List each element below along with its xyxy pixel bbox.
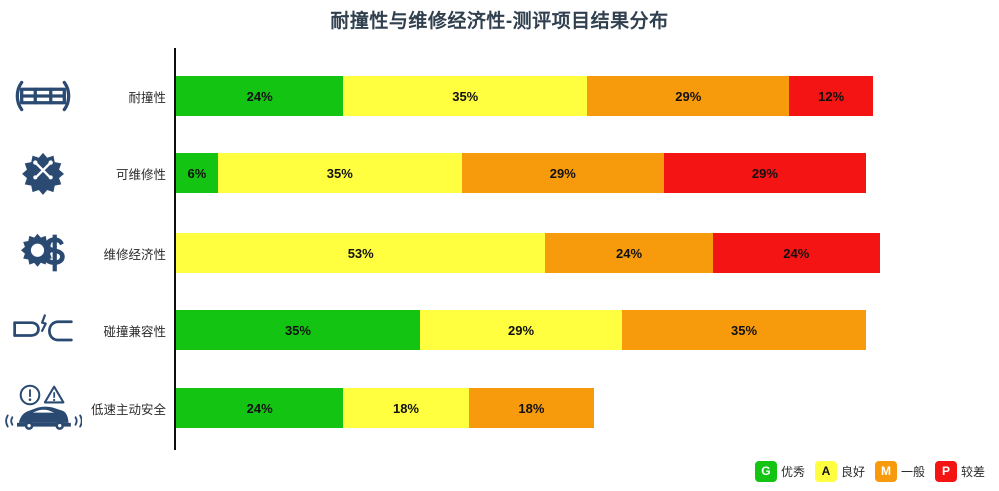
gear-dollar-icon: [4, 227, 82, 279]
stacked-bar: 6%35%29%29%: [176, 153, 866, 193]
collision-compatibility-icon: [4, 304, 82, 356]
legend-item: M一般: [875, 461, 925, 482]
legend-swatch-g: G: [755, 461, 777, 482]
stacked-bar: 35%29%35%: [176, 310, 866, 350]
bar-segment-m: 24%: [545, 233, 712, 273]
legend-swatch-p: P: [935, 461, 957, 482]
chart-row: 低速主动安全24%18%18%: [0, 388, 999, 428]
legend-label: 良好: [841, 463, 865, 480]
category-label: 低速主动安全: [86, 388, 166, 428]
bar-segment-g: 6%: [176, 153, 218, 193]
bar-segment-a: 29%: [420, 310, 622, 350]
bar-segment-g: 35%: [176, 310, 420, 350]
legend-swatch-a: A: [815, 461, 837, 482]
wrench-gear-icon: [4, 147, 82, 199]
bar-segment-p: 24%: [713, 233, 880, 273]
chart-row: 维修经济性53%24%24%: [0, 233, 999, 273]
bar-segment-m: 18%: [469, 388, 594, 428]
bar-segment-p: 29%: [664, 153, 866, 193]
chart-row: 可维修性6%35%29%29%: [0, 153, 999, 193]
chart-row: 碰撞兼容性35%29%35%: [0, 310, 999, 350]
crash-structure-icon: [4, 70, 82, 122]
stacked-bar: 24%35%29%12%: [176, 76, 873, 116]
legend-label: 一般: [901, 463, 925, 480]
legend-label: 较差: [961, 463, 985, 480]
category-label: 可维修性: [86, 153, 166, 193]
bar-segment-a: 35%: [218, 153, 462, 193]
bar-segment-m: 29%: [587, 76, 789, 116]
bar-segment-m: 29%: [462, 153, 664, 193]
legend-item: G优秀: [755, 461, 805, 482]
legend-item: P较差: [935, 461, 985, 482]
bar-segment-a: 53%: [176, 233, 545, 273]
category-label: 维修经济性: [86, 233, 166, 273]
stacked-bar: 53%24%24%: [176, 233, 880, 273]
category-label: 耐撞性: [86, 76, 166, 116]
stacked-bar: 24%18%18%: [176, 388, 594, 428]
legend-item: A良好: [815, 461, 865, 482]
legend-label: 优秀: [781, 463, 805, 480]
legend-swatch-m: M: [875, 461, 897, 482]
bar-segment-g: 24%: [176, 76, 343, 116]
bar-segment-a: 35%: [343, 76, 587, 116]
bar-segment-p: 12%: [789, 76, 873, 116]
bar-segment-a: 18%: [343, 388, 468, 428]
chart-legend: G优秀A良好M一般P较差: [755, 457, 991, 485]
page-title: 耐撞性与维修经济性-测评项目结果分布: [0, 6, 999, 33]
chart-plot-area: 耐撞性24%35%29%12% 可维修性6%35%29%29% 维修经济性53%…: [0, 40, 999, 455]
category-label: 碰撞兼容性: [86, 310, 166, 350]
chart-row: 耐撞性24%35%29%12%: [0, 76, 999, 116]
active-safety-car-icon: [4, 382, 82, 434]
bar-segment-m: 35%: [622, 310, 866, 350]
bar-segment-g: 24%: [176, 388, 343, 428]
